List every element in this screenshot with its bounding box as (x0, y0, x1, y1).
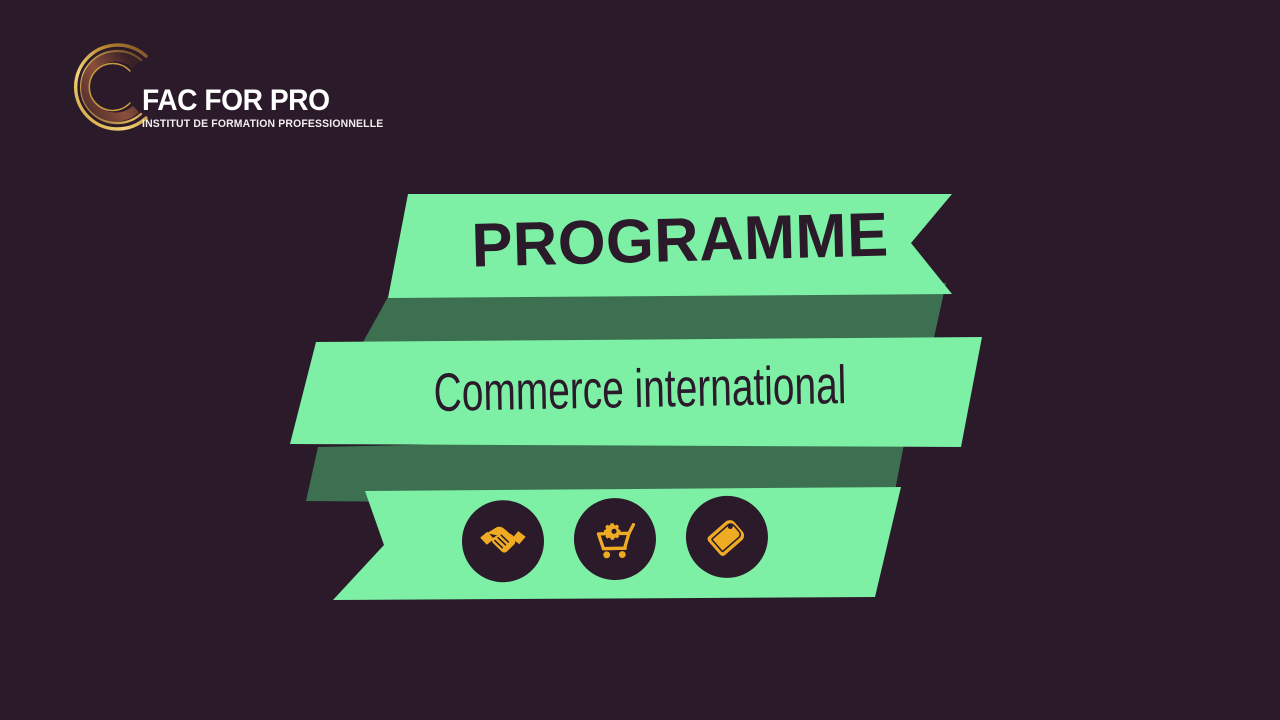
ribbon-subject (290, 337, 982, 447)
icon-badge-row (461, 495, 783, 583)
ribbon-banner-group (0, 0, 1280, 720)
cart-gear-icon (589, 514, 640, 565)
price-tag-icon (702, 512, 751, 561)
icon-badge-cart-gear[interactable] (573, 497, 657, 581)
icon-badge-price-tag[interactable] (685, 495, 769, 579)
handshake-icon (476, 515, 529, 568)
ribbon-programme (388, 194, 952, 298)
icon-badge-handshake[interactable] (461, 499, 545, 583)
slide-canvas: FAC FOR PRO INSTITUT DE FORMATION PROFES… (0, 0, 1280, 720)
